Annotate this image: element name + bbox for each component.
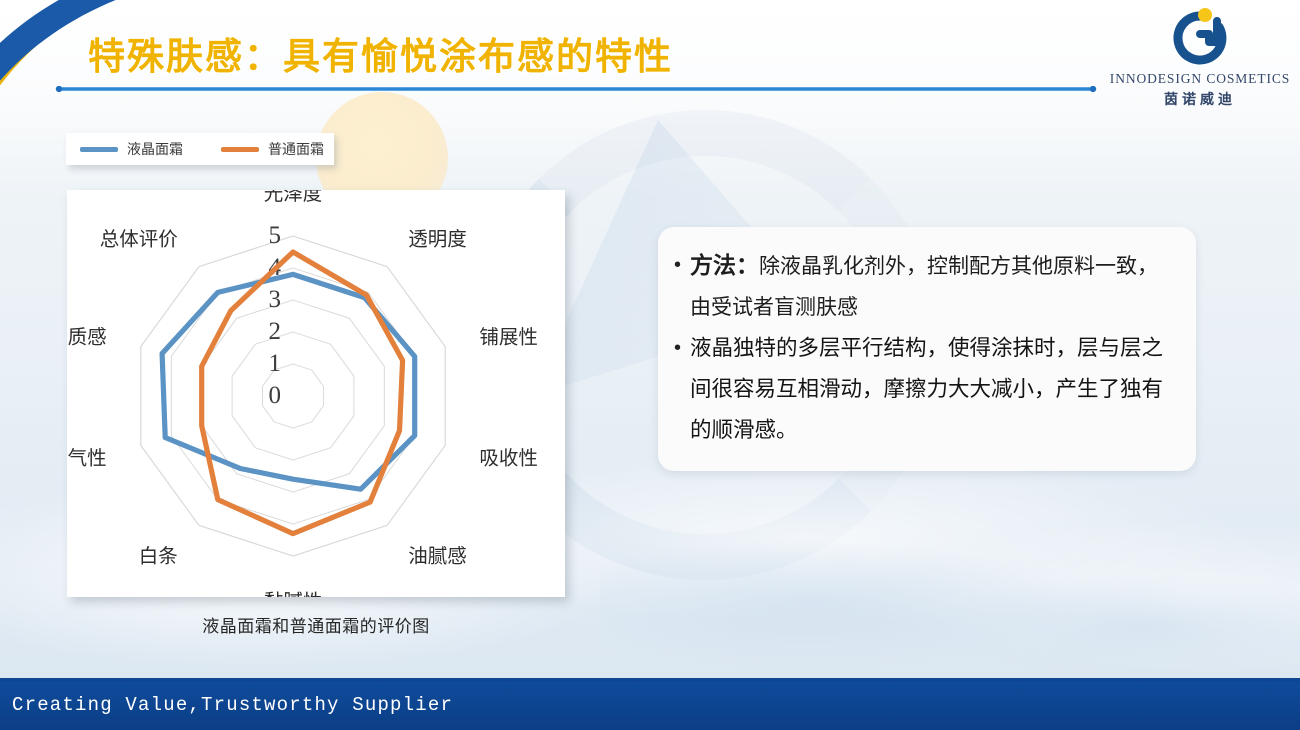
- logo-english-text: INNODESIGN COSMETICS: [1108, 71, 1292, 87]
- bullet-text: 液晶独特的多层平行结构，使得涂抹时，层与层之间很容易互相滑动，摩擦力大大减小，产…: [690, 328, 1178, 451]
- radar-axis-label: 黏腻性: [264, 591, 323, 597]
- background-cloud-lower: [600, 520, 1300, 690]
- radar-axis-label: 透气性: [67, 448, 107, 470]
- radar-axis-label: 铺展性: [479, 326, 538, 348]
- logo-chinese-text: 茵诺威迪: [1108, 89, 1292, 109]
- radar-axis-label: 吸收性: [479, 448, 538, 470]
- page-title: 特殊肤感：具有愉悦涂布感的特性: [88, 26, 673, 80]
- brand-logo: INNODESIGN COSMETICS 茵诺威迪: [1108, 8, 1292, 109]
- slide-root: 特殊肤感：具有愉悦涂布感的特性 INNODESIGN COSMETICS 茵诺威…: [0, 0, 1300, 730]
- chart-legend: 液晶面霜 普通面霜: [66, 133, 334, 165]
- legend-label: 普通面霜: [268, 139, 324, 159]
- radar-chart-panel: 012345光泽度透明度铺展性吸收性油腻感黏腻性白条透气性轻质感总体评价: [67, 190, 565, 597]
- bullet-item-method: • 方法：除液晶乳化剂外，控制配方其他原料一致，由受试者盲测肤感: [674, 245, 1178, 328]
- radar-tick-label: 5: [269, 222, 282, 249]
- legend-label: 液晶面霜: [127, 139, 183, 159]
- bullet-text: 方法：除液晶乳化剂外，控制配方其他原料一致，由受试者盲测肤感: [690, 245, 1178, 328]
- radar-axis-label: 油腻感: [408, 546, 467, 568]
- radar-axis-label: 透明度: [408, 228, 467, 250]
- legend-swatch-icon: [80, 147, 118, 152]
- radar-chart: 012345光泽度透明度铺展性吸收性油腻感黏腻性白条透气性轻质感总体评价: [67, 190, 565, 597]
- legend-swatch-icon: [221, 147, 259, 152]
- legend-item-ordinary: 普通面霜: [221, 139, 324, 159]
- bullet-dot-icon: •: [674, 328, 690, 368]
- bullet-lead: 方法：: [690, 253, 759, 278]
- radar-axis-label: 光泽度: [264, 190, 323, 205]
- radar-axis-label: 总体评价: [100, 228, 178, 250]
- title-underline-rule: [55, 86, 1097, 92]
- bullet-dot-icon: •: [674, 245, 690, 285]
- radar-tick-label: 3: [269, 286, 282, 313]
- radar-tick-label: 1: [269, 350, 282, 377]
- radar-tick-label: 2: [269, 318, 282, 345]
- description-card: • 方法：除液晶乳化剂外，控制配方其他原料一致，由受试者盲测肤感 • 液晶独特的…: [658, 227, 1196, 471]
- bullet-item-structure: • 液晶独特的多层平行结构，使得涂抹时，层与层之间很容易互相滑动，摩擦力大大减小…: [674, 328, 1178, 451]
- chart-caption: 液晶面霜和普通面霜的评价图: [67, 612, 565, 637]
- bullet-body: 液晶独特的多层平行结构，使得涂抹时，层与层之间很容易互相滑动，摩擦力大大减小，产…: [690, 336, 1163, 442]
- footer-tagline: Creating Value,Trustworthy Supplier: [12, 694, 453, 716]
- radar-axis-label: 白条: [139, 546, 178, 568]
- company-logo-icon: [1164, 8, 1236, 70]
- footer-bar: Creating Value,Trustworthy Supplier: [0, 682, 1300, 730]
- bullet-body: 除液晶乳化剂外，控制配方其他原料一致，由受试者盲测肤感: [690, 254, 1158, 319]
- legend-item-liquid-crystal: 液晶面霜: [80, 139, 183, 159]
- radar-axis-label: 轻质感: [67, 326, 107, 348]
- radar-tick-label: 0: [269, 382, 282, 409]
